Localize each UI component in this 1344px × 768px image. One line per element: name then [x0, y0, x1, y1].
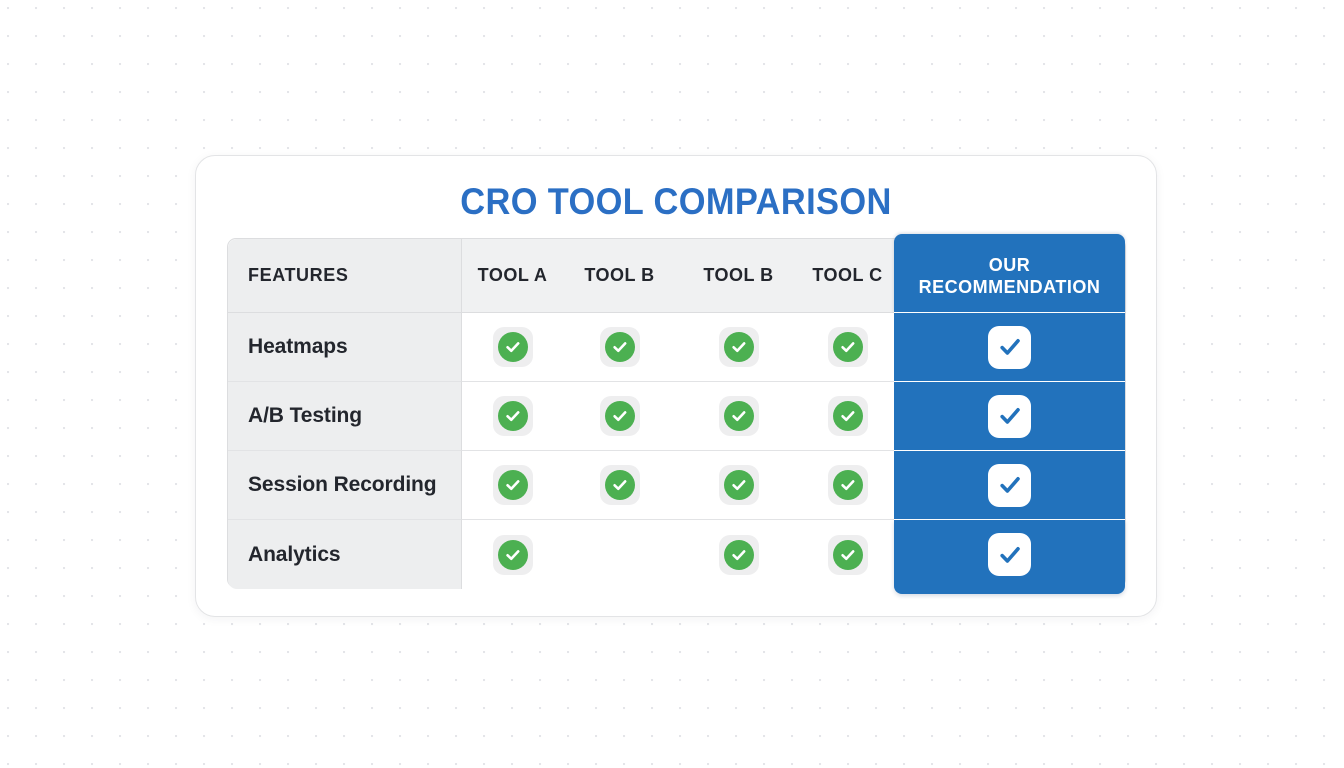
check-circle-green-icon	[600, 465, 640, 505]
cell-tool-4	[801, 520, 894, 589]
cell-recommendation	[894, 313, 1125, 382]
check-circle-green-icon	[719, 396, 759, 436]
cell-tool-3	[676, 451, 801, 519]
cell-tool-2	[563, 382, 676, 450]
cell-tool-3	[676, 313, 801, 381]
comparison-table: FEATURES TOOL A TOOL B TOOL B TOOL C OUR	[227, 238, 1126, 588]
header-label-features: FEATURES	[248, 265, 348, 286]
recommendation-line-2: RECOMMENDATION	[919, 277, 1101, 297]
cell-tool-1	[462, 313, 563, 381]
empty-indicator	[600, 535, 640, 575]
check-circle-green-icon	[600, 327, 640, 367]
cell-tool-1	[462, 382, 563, 450]
header-label-tool-1: TOOL A	[478, 265, 548, 286]
check-circle-green-icon	[493, 535, 533, 575]
cell-tool-2	[563, 313, 676, 381]
header-cell-tool-1: TOOL A	[462, 239, 563, 312]
check-circle-green-icon	[828, 396, 868, 436]
header-label-tool-2: TOOL B	[584, 265, 654, 286]
check-circle-green-icon	[828, 327, 868, 367]
cell-recommendation	[894, 520, 1125, 594]
row-tool-group	[462, 451, 894, 520]
table-row: Analytics	[228, 520, 1125, 589]
header-label-recommendation: OUR RECOMMENDATION	[919, 254, 1101, 298]
header-label-tool-3: TOOL B	[703, 265, 773, 286]
table-row: Session Recording	[228, 451, 1125, 520]
row-feature-cell: Session Recording	[228, 451, 462, 520]
cell-tool-4	[801, 313, 894, 381]
feature-label: Analytics	[248, 543, 340, 567]
header-cell-tool-3: TOOL B	[676, 239, 801, 312]
table-row: Heatmaps	[228, 313, 1125, 382]
check-square-blue-icon	[988, 395, 1031, 438]
check-square-blue-icon	[988, 326, 1031, 369]
cell-tool-2	[563, 520, 676, 589]
page-title: CRO TOOL COMPARISON	[230, 180, 1123, 224]
cell-tool-4	[801, 451, 894, 519]
feature-label: Heatmaps	[248, 335, 348, 359]
check-circle-green-icon	[828, 465, 868, 505]
recommendation-line-1: OUR	[989, 255, 1031, 275]
cell-recommendation	[894, 451, 1125, 520]
cell-tool-1	[462, 520, 563, 589]
table-row: A/B Testing	[228, 382, 1125, 451]
cell-tool-1	[462, 451, 563, 519]
row-tool-group	[462, 382, 894, 451]
row-tool-group	[462, 313, 894, 382]
cell-recommendation	[894, 382, 1125, 451]
check-circle-green-icon	[828, 535, 868, 575]
check-circle-green-icon	[600, 396, 640, 436]
check-circle-green-icon	[493, 396, 533, 436]
header-tool-group: TOOL A TOOL B TOOL B TOOL C	[462, 239, 894, 313]
feature-label: Session Recording	[248, 473, 437, 497]
header-cell-tool-2: TOOL B	[563, 239, 676, 312]
check-square-blue-icon	[988, 464, 1031, 507]
header-cell-tool-4: TOOL C	[801, 239, 894, 312]
check-circle-green-icon	[719, 465, 759, 505]
check-square-blue-icon	[988, 533, 1031, 576]
table-header-row: FEATURES TOOL A TOOL B TOOL B TOOL C OUR	[228, 239, 1125, 313]
cell-tool-2	[563, 451, 676, 519]
cell-tool-3	[676, 382, 801, 450]
comparison-card: CRO TOOL COMPARISON FEATURES TOOL A TOOL…	[195, 155, 1157, 617]
check-circle-green-icon	[493, 327, 533, 367]
header-cell-features: FEATURES	[228, 239, 462, 313]
row-feature-cell: Analytics	[228, 520, 462, 589]
header-cell-recommendation: OUR RECOMMENDATION	[894, 234, 1125, 313]
row-feature-cell: A/B Testing	[228, 382, 462, 451]
check-circle-green-icon	[719, 535, 759, 575]
row-tool-group	[462, 520, 894, 589]
header-label-tool-4: TOOL C	[812, 265, 882, 286]
check-circle-green-icon	[493, 465, 533, 505]
cell-tool-3	[676, 520, 801, 589]
cell-tool-4	[801, 382, 894, 450]
feature-label: A/B Testing	[248, 404, 362, 428]
row-feature-cell: Heatmaps	[228, 313, 462, 382]
check-circle-green-icon	[719, 327, 759, 367]
